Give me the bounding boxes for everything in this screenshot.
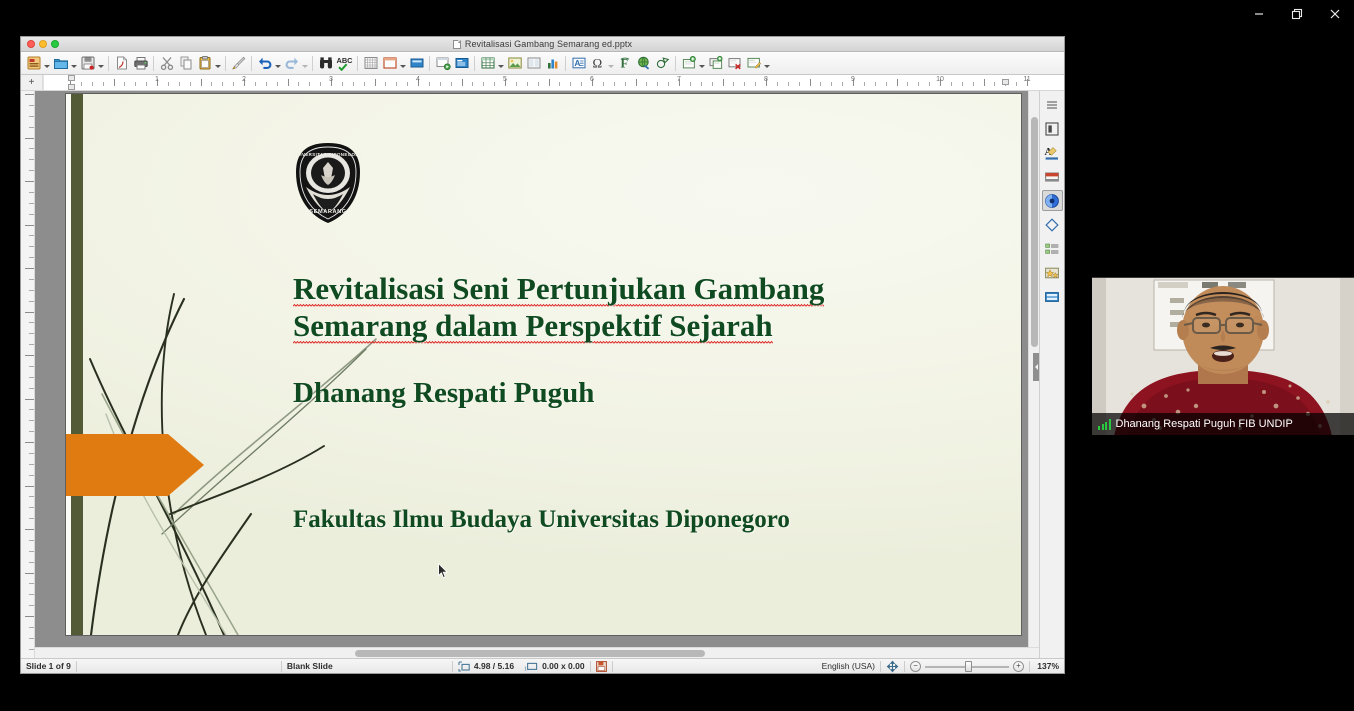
ruler-tick [385, 82, 386, 86]
ruler-number: 5 [503, 76, 507, 83]
ruler-tick [25, 442, 34, 443]
zoom-in-button[interactable]: + [1013, 661, 1024, 672]
ruler-tick [92, 82, 93, 86]
master-slides-list-icon [1044, 241, 1060, 257]
zoom-out-button[interactable]: − [910, 661, 921, 672]
slide-editing-canvas[interactable]: SEMARANG UNIVERSITAS DIPONEGORO Revitali… [35, 91, 1039, 647]
undo-button[interactable] [255, 53, 282, 74]
ruler-tick [29, 551, 34, 552]
ruler-tick [29, 507, 34, 508]
ruler-tick [29, 192, 34, 193]
ruler-tick [29, 409, 34, 410]
copy-button[interactable] [176, 53, 195, 74]
folder-open-icon[interactable] [51, 54, 70, 73]
ruler-tick [440, 82, 441, 86]
gallery-star-icon [1044, 265, 1060, 281]
new-slide-icon[interactable] [679, 54, 698, 73]
ruler-tick [190, 82, 191, 86]
ruler-tick [29, 127, 34, 128]
ruler-tick [625, 82, 626, 86]
ruler-tick [179, 82, 180, 86]
horizontal-ruler-track[interactable]: 1234567891011 [43, 75, 1064, 90]
delete-slide-button[interactable] [725, 53, 744, 74]
ruler-tick [984, 79, 985, 86]
ruler-tick [810, 79, 811, 86]
sidebar-item-master-slides[interactable] [1042, 238, 1063, 259]
ruler-tick [29, 257, 34, 258]
toolbar-separator [675, 56, 676, 71]
titlebar[interactable]: Revitalisasi Gambang Semarang ed.pptx [21, 37, 1064, 52]
ruler-tick [733, 82, 734, 86]
sidebar-item-sidebar-settings[interactable] [1042, 94, 1063, 115]
os-window-controls [1240, 0, 1354, 28]
sidebar-show-hide-handle[interactable] [1033, 353, 1039, 381]
slide-title-line-1: Revitalisasi Seni Pertunjukan Gambang [293, 271, 824, 308]
ruler-tick [29, 344, 34, 345]
ruler-tick [820, 82, 821, 86]
ruler-tick [831, 82, 832, 86]
ruler-tick [25, 268, 34, 269]
sidebar-item-shapes[interactable] [1042, 214, 1063, 235]
ruler-tick [25, 616, 34, 617]
ruler-corner[interactable] [21, 75, 43, 90]
ruler-tick [29, 540, 34, 541]
ruler-tick [25, 181, 34, 182]
sidebar-item-slide-transition[interactable] [1042, 166, 1063, 187]
image-icon[interactable] [505, 54, 524, 73]
close-icon[interactable] [1318, 1, 1352, 27]
toolbar-separator [108, 56, 109, 71]
ruler-tick [614, 82, 615, 86]
ruler-tick [994, 82, 995, 86]
ruler-tick [29, 290, 34, 291]
insert-table-button[interactable] [478, 53, 505, 74]
window-close-button[interactable] [27, 40, 35, 48]
ruler-tick [788, 82, 789, 86]
scissors-icon[interactable] [157, 54, 176, 73]
ruler-tick [25, 312, 34, 313]
ruler-tick [918, 82, 919, 86]
ruler-tick [527, 82, 528, 86]
sidebar-item-navigator[interactable] [1042, 286, 1063, 307]
chevron-down-icon[interactable] [274, 54, 282, 73]
webcam-video-frame [1092, 278, 1354, 435]
ruler-tick [25, 225, 34, 226]
ruler-tick [29, 301, 34, 302]
ruler-tick [309, 82, 310, 86]
ruler-tick [25, 138, 34, 139]
ruler-tick [907, 82, 908, 86]
main-area: SEMARANG UNIVERSITAS DIPONEGORO Revitali… [21, 91, 1064, 658]
ruler-tick [516, 82, 517, 86]
ruler-tick [146, 82, 147, 86]
svg-text:ABC: ABC [337, 56, 354, 65]
ruler-tick [483, 82, 484, 86]
fit-slide-to-window-icon [886, 660, 899, 673]
show-draw-functions-button[interactable] [653, 53, 672, 74]
ruler-tick [636, 79, 637, 86]
master-slide-button[interactable] [407, 53, 426, 74]
chevron-down-icon[interactable] [97, 54, 105, 73]
ruler-tick [29, 203, 34, 204]
paintbrush-icon[interactable] [229, 54, 248, 73]
ruler-number: 11 [1023, 76, 1030, 83]
open-button[interactable] [51, 53, 78, 74]
ruler-tick [29, 464, 34, 465]
shapes-diamond-icon [1044, 217, 1060, 233]
impress-window: Revitalisasi Gambang Semarang ed.pptx [20, 36, 1065, 674]
ruler-number: 6 [590, 76, 594, 83]
undo-arrow-icon[interactable] [255, 54, 274, 73]
abc-check-icon[interactable]: ABC [335, 54, 354, 73]
ruler-indent-marker[interactable] [1002, 79, 1009, 85]
start-from-first-slide-button[interactable] [433, 53, 452, 74]
ruler-tick [29, 420, 34, 421]
ruler-tick [277, 82, 278, 86]
chevron-down-icon[interactable] [698, 54, 706, 73]
ruler-tick [29, 453, 34, 454]
audio-level-bars-icon [1098, 419, 1111, 430]
ruler-tick [29, 583, 34, 584]
ruler-tick [538, 82, 539, 86]
slide-faculty[interactable]: Fakultas Ilmu Budaya Universitas Diponeg… [293, 506, 790, 534]
ruler-tick [690, 82, 691, 86]
copy-icon[interactable] [176, 54, 195, 73]
insert-textbox-a-icon[interactable]: A [569, 54, 588, 73]
toolbar-separator [474, 56, 475, 71]
ruler-tick [29, 170, 34, 171]
ruler-tick [581, 82, 582, 86]
ruler-tick [723, 79, 724, 86]
ruler-tick [559, 82, 560, 86]
ruler-tick [29, 377, 34, 378]
zoom-slider[interactable] [925, 661, 1009, 672]
ruler-tick [451, 82, 452, 86]
export-pdf-icon[interactable] [112, 54, 131, 73]
status-cursor-position[interactable]: 4.98 / 5.16 [453, 659, 519, 673]
ruler-tick [255, 82, 256, 86]
ruler-tick [875, 82, 876, 86]
status-zoom-level[interactable]: 137% [1030, 659, 1064, 673]
globe-link-icon[interactable] [634, 54, 653, 73]
display-grid-button[interactable] [361, 53, 380, 74]
new-slide-button[interactable] [679, 53, 706, 74]
ruler-number: 3 [329, 76, 333, 83]
ruler-number: 9 [851, 76, 855, 83]
clipboard-icon[interactable] [195, 54, 214, 73]
ruler-tick [603, 82, 604, 86]
status-save-state[interactable] [591, 659, 612, 673]
window-zoom-button[interactable] [51, 40, 59, 48]
duplicate-slide-button[interactable] [706, 53, 725, 74]
ruler-tick [29, 475, 34, 476]
ruler-tick [320, 82, 321, 86]
ruler-tick [29, 649, 34, 650]
grid-icon[interactable] [361, 54, 380, 73]
insert-chart-button[interactable] [543, 53, 562, 74]
chevron-down-icon[interactable] [43, 54, 51, 73]
ruler-tick [103, 82, 104, 86]
ruler-tick [211, 82, 212, 86]
ruler-number: 4 [416, 76, 420, 83]
insert-image-button[interactable] [505, 53, 524, 74]
minimize-icon[interactable] [1242, 1, 1276, 27]
window-minimize-button[interactable] [39, 40, 47, 48]
ruler-number: 7 [677, 76, 681, 83]
ruler-indent-marker[interactable] [68, 84, 75, 90]
mouse-cursor [438, 563, 449, 579]
status-layout-name[interactable]: Blank Slide [282, 659, 452, 673]
ruler-tick [288, 79, 289, 86]
ruler-tick [114, 79, 115, 86]
ruler-tick [25, 355, 34, 356]
ruler-tick [29, 627, 34, 628]
sidebar-tab-rail: A [1039, 91, 1064, 658]
ruler-tick [29, 246, 34, 247]
traffic-lights [27, 40, 59, 48]
ruler-tick [570, 82, 571, 86]
ruler-tick [29, 116, 34, 117]
chevron-down-icon[interactable] [399, 54, 407, 73]
ruler-number: 1 [155, 76, 159, 83]
ruler-tick [201, 79, 202, 86]
slide-title-line-2: Semarang dalam Perspektif Sejarah [293, 308, 773, 345]
ruler-tick [29, 518, 34, 519]
ruler-tick [29, 496, 34, 497]
ruler-tick [298, 82, 299, 86]
ruler-tick [744, 82, 745, 86]
ruler-tick [25, 399, 34, 400]
ruler-tick [135, 82, 136, 86]
ruler-tick [29, 105, 34, 106]
toolbar-separator [225, 56, 226, 71]
restore-icon[interactable] [1280, 1, 1314, 27]
chevron-down-icon[interactable] [497, 54, 505, 73]
status-fit-slide[interactable] [881, 659, 904, 673]
sidebar-item-animation[interactable] [1042, 190, 1063, 211]
status-language[interactable]: English (USA) [817, 659, 880, 673]
ruler-tick [429, 82, 430, 86]
find-replace-button[interactable] [316, 53, 335, 74]
slide-title[interactable]: Revitalisasi Seni Pertunjukan Gambang Se… [293, 270, 893, 344]
ruler-tick [864, 82, 865, 86]
paste-button[interactable] [195, 53, 222, 74]
ruler-tick [81, 82, 82, 86]
vertical-scrollbar-thumb[interactable] [1031, 117, 1038, 347]
hamburger-menu-icon [1045, 98, 1059, 112]
zoom-slider-knob[interactable] [965, 661, 972, 672]
ruler-tick [407, 82, 408, 86]
svg-text:1: 1 [524, 666, 527, 672]
master-slide-icon[interactable] [407, 54, 426, 73]
insert-special-character-button[interactable]: Ω [588, 53, 615, 74]
insert-fontwork-button[interactable]: F [615, 53, 634, 74]
ruler-tick [353, 82, 354, 86]
ruler-tick [842, 82, 843, 86]
insert-text-box-alt-button[interactable]: A [569, 53, 588, 74]
export-pdf-button[interactable] [112, 53, 131, 74]
delete-slide-icon[interactable] [725, 54, 744, 73]
ruler-tick [657, 82, 658, 86]
status-bar: Slide 1 of 9 Blank Slide 4.98 / 5.16 1 [21, 658, 1064, 673]
start-slideshow-icon[interactable] [433, 54, 452, 73]
orange-arrow-shape[interactable] [66, 430, 204, 500]
ruler-indent-marker[interactable] [68, 75, 75, 81]
insert-hyperlink-button[interactable] [634, 53, 653, 74]
ruler-tick [799, 82, 800, 86]
navigator-icon [1044, 289, 1060, 305]
binoculars-icon[interactable] [316, 54, 335, 73]
screen: Revitalisasi Gambang Semarang ed.pptx [0, 0, 1354, 711]
bar-chart-icon[interactable] [543, 54, 562, 73]
slide-author[interactable]: Dhanang Respati Puguh [293, 377, 594, 410]
svg-text:UNIVERSITAS DIPONEGORO: UNIVERSITAS DIPONEGORO [293, 152, 363, 157]
cut-button[interactable] [157, 53, 176, 74]
ruler-tick [29, 594, 34, 595]
slide-layout-icon[interactable] [744, 54, 763, 73]
vertical-ruler[interactable] [21, 91, 35, 658]
zoom-controls: − + [905, 659, 1029, 673]
ruler-number: 8 [764, 76, 768, 83]
print-button[interactable] [131, 53, 150, 74]
ruler-tick [29, 605, 34, 606]
toolbar-separator [429, 56, 430, 71]
ruler-tick [29, 279, 34, 280]
webcam-video-overlay[interactable]: Dhanang Respati Puguh FIB UNDIP [1092, 277, 1354, 435]
participant-name: Dhanang Respati Puguh FIB UNDIP [1116, 418, 1293, 430]
ruler-tick [929, 82, 930, 86]
ruler-tick [364, 82, 365, 86]
fontwork-icon[interactable]: F [615, 54, 634, 73]
ruler-tick [549, 79, 550, 86]
table-icon[interactable] [478, 54, 497, 73]
object-size-icon: 1 [524, 661, 538, 672]
ruler-tick [29, 214, 34, 215]
ruler-tick [29, 431, 34, 432]
text-box-icon[interactable] [524, 54, 543, 73]
slide-1[interactable]: SEMARANG UNIVERSITAS DIPONEGORO Revitali… [66, 94, 1021, 635]
status-spacer-1 [77, 659, 281, 673]
ruler-tick [777, 82, 778, 86]
sidebar-item-gallery[interactable] [1042, 262, 1063, 283]
ruler-tick [701, 82, 702, 86]
participant-name-bar: Dhanang Respati Puguh FIB UNDIP [1092, 413, 1354, 435]
svg-text:SEMARANG: SEMARANG [309, 209, 346, 215]
toolbar-separator [357, 56, 358, 71]
standard-toolbar: ABC [21, 52, 1064, 75]
redo-button[interactable] [282, 53, 309, 74]
chevron-down-icon[interactable] [214, 54, 222, 73]
chevron-down-icon[interactable] [70, 54, 78, 73]
ruler-tick [233, 82, 234, 86]
toolbar-separator [312, 56, 313, 71]
horizontal-ruler[interactable]: 1234567891011 [21, 75, 1064, 91]
sidebar-item-styles[interactable]: A [1042, 142, 1063, 163]
chevron-down-icon[interactable] [763, 54, 771, 73]
ruler-tick [1016, 82, 1017, 86]
ruler-tick [886, 82, 887, 86]
ruler-tick [494, 82, 495, 86]
window-title: Revitalisasi Gambang Semarang ed.pptx [21, 39, 1064, 49]
spelling-button[interactable]: ABC [335, 53, 354, 74]
ruler-tick [472, 82, 473, 86]
unsaved-changes-icon [596, 661, 607, 672]
ruler-number: 10 [936, 76, 944, 83]
ruler-tick [124, 82, 125, 86]
ruler-tick [25, 94, 34, 95]
insert-text-box-button[interactable] [524, 53, 543, 74]
ruler-tick [266, 82, 267, 86]
svg-text:A: A [574, 58, 580, 68]
save-icon[interactable] [78, 54, 97, 73]
ruler-tick [668, 82, 669, 86]
chevron-down-icon[interactable] [607, 54, 615, 73]
toolbar-separator [251, 56, 252, 71]
status-spacer-2 [613, 659, 817, 673]
ruler-tick [342, 82, 343, 86]
character-styles-icon: A [1044, 145, 1060, 161]
duplicate-slide-icon[interactable] [706, 54, 725, 73]
ruler-tick [396, 82, 397, 86]
toolbar-separator [565, 56, 566, 71]
undip-logo[interactable]: SEMARANG UNIVERSITAS DIPONEGORO [293, 142, 363, 224]
ruler-tick [712, 82, 713, 86]
chevron-down-icon[interactable] [301, 54, 309, 73]
slide-transition-icon [1044, 169, 1060, 185]
ruler-tick [168, 82, 169, 86]
window-title-text: Revitalisasi Gambang Semarang ed.pptx [465, 39, 632, 49]
ruler-tick [29, 562, 34, 563]
ruler-tick [29, 322, 34, 323]
ruler-tick [29, 333, 34, 334]
ruler-tick [222, 82, 223, 86]
status-object-size[interactable]: 1 0.00 x 0.00 [519, 659, 590, 673]
animation-icon [1044, 193, 1060, 209]
slide-layout-button[interactable] [744, 53, 771, 74]
ruler-tick [962, 82, 963, 86]
start-from-current-slide-button[interactable] [452, 53, 471, 74]
svg-text:Ω: Ω [592, 56, 602, 71]
ruler-tick [25, 573, 34, 574]
status-slide-position[interactable]: Slide 1 of 9 [21, 659, 76, 673]
ruler-tick [646, 82, 647, 86]
save-button[interactable] [78, 53, 105, 74]
redo-arrow-icon[interactable] [282, 54, 301, 73]
display-views-button[interactable] [380, 53, 407, 74]
ruler-tick [29, 148, 34, 149]
omega-icon[interactable]: Ω [588, 54, 607, 73]
ruler-tick [29, 638, 34, 639]
cursor-position-icon [458, 661, 470, 672]
printer-icon[interactable] [131, 54, 150, 73]
new-presentation-icon[interactable] [24, 54, 43, 73]
clone-formatting-button[interactable] [229, 53, 248, 74]
ruler-tick [29, 159, 34, 160]
new-document-button[interactable] [24, 53, 51, 74]
horizontal-scrollbar[interactable] [35, 647, 1039, 658]
properties-panel-icon [1044, 121, 1060, 137]
sidebar-item-properties[interactable] [1042, 118, 1063, 139]
ruler-tick [897, 79, 898, 86]
ruler-tick [951, 82, 952, 86]
current-slide-icon[interactable] [452, 54, 471, 73]
draw-functions-icon[interactable] [653, 54, 672, 73]
toolbar-separator [153, 56, 154, 71]
ruler-tick [25, 486, 34, 487]
horizontal-scrollbar-thumb[interactable] [355, 650, 705, 657]
display-views-icon[interactable] [380, 54, 399, 73]
ruler-tick [29, 388, 34, 389]
